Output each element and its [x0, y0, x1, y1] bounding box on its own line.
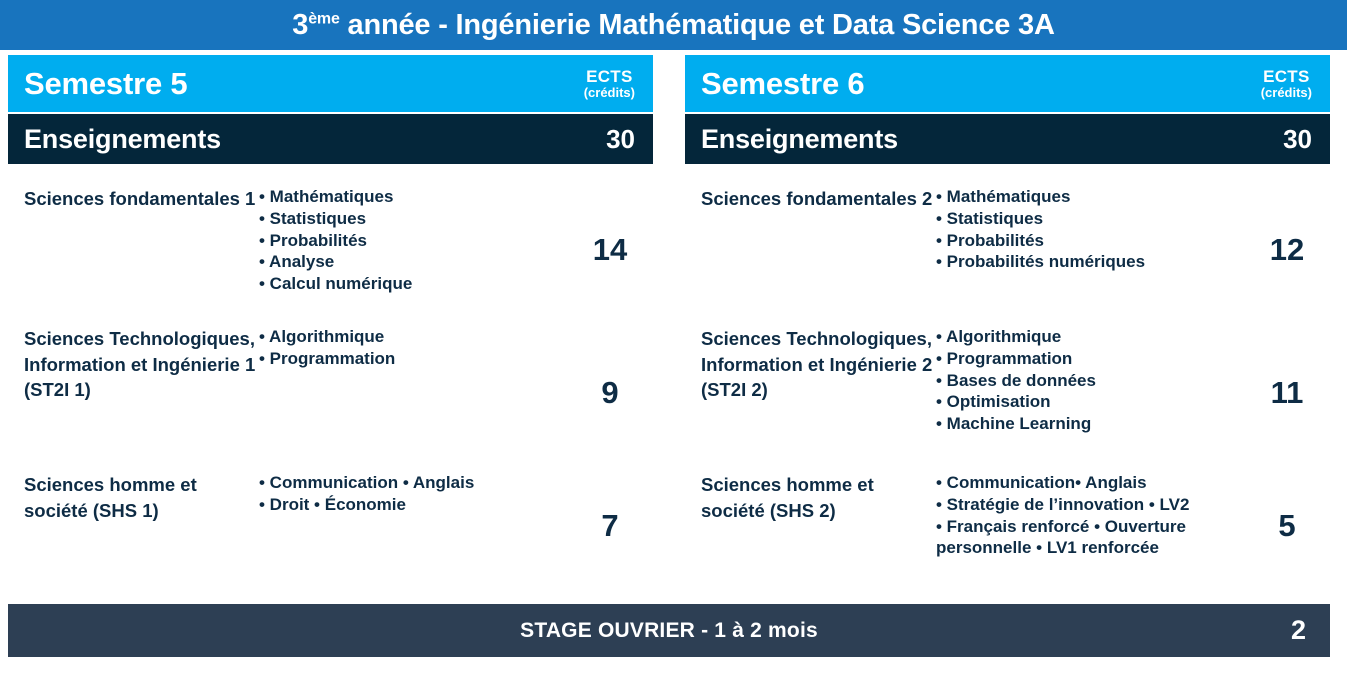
semester-6-header: Semestre 6 ECTS (crédits) — [685, 55, 1330, 112]
internship-bar: STAGE OUVRIER - 1 à 2 mois 2 — [8, 604, 1330, 657]
semester-5-ects-header: ECTS (crédits) — [584, 68, 639, 99]
semester-panel-6: Semestre 6 ECTS (crédits) Enseignements … — [685, 55, 1330, 590]
module-course-list: • Mathématiques • Statistiques • Probabi… — [259, 178, 581, 295]
semester-5-title: Semestre 5 — [24, 66, 187, 102]
semester-5-header: Semestre 5 ECTS (crédits) — [8, 55, 653, 112]
semester-6-ects-header: ECTS (crédits) — [1261, 68, 1316, 99]
module-course-list: • Communication • Anglais • Droit • Écon… — [259, 464, 581, 516]
list-item: • Probabilités — [259, 230, 575, 252]
semester-5-teaching-bar: Enseignements 30 — [8, 114, 653, 164]
module-course-list: • Mathématiques • Statistiques • Probabi… — [936, 178, 1258, 273]
internship-label: STAGE OUVRIER - 1 à 2 mois — [32, 619, 1266, 643]
teaching-label: Enseignements — [701, 124, 898, 155]
module-row: Sciences fondamentales 1 • Mathématiques… — [8, 178, 653, 318]
semester-6-title: Semestre 6 — [701, 66, 864, 102]
ects-sublabel: (crédits) — [1261, 86, 1312, 100]
module-row: Sciences Technologiques, Information et … — [8, 318, 653, 464]
list-item: • Probabilités numériques — [936, 251, 1252, 273]
page-title-rest: année - Ingénierie Mathématique et Data … — [340, 9, 1055, 41]
list-item: • Probabilités — [936, 230, 1252, 252]
teaching-total-credits: 30 — [606, 124, 635, 155]
ects-label: ECTS — [584, 68, 635, 86]
curriculum-page: 3ème année - Ingénierie Mathématique et … — [0, 0, 1347, 673]
semester-panels: Semestre 5 ECTS (crédits) Enseignements … — [8, 55, 1330, 590]
module-title: Sciences fondamentales 2 — [701, 178, 936, 212]
module-row: Sciences homme et société (SHS 2) • Comm… — [685, 464, 1330, 584]
teaching-total-credits: 30 — [1283, 124, 1312, 155]
module-credits: 5 — [1258, 504, 1316, 544]
list-item: • Programmation — [259, 348, 575, 370]
list-item: • Algorithmique — [259, 326, 575, 348]
module-title: Sciences fondamentales 1 — [24, 178, 259, 212]
module-credits: 14 — [581, 228, 639, 268]
ects-sublabel: (crédits) — [584, 86, 635, 100]
semester-panel-5: Semestre 5 ECTS (crédits) Enseignements … — [8, 55, 653, 590]
list-item: • Communication• Anglais — [936, 472, 1252, 494]
page-title-superscript: ème — [308, 10, 339, 27]
internship-credits: 2 — [1266, 615, 1306, 646]
list-item: • Droit • Économie — [259, 494, 575, 516]
list-item: • Stratégie de l’innovation • LV2 — [936, 494, 1252, 516]
module-row: Sciences homme et société (SHS 1) • Comm… — [8, 464, 653, 584]
list-item: • Algorithmique — [936, 326, 1252, 348]
list-item: • Programmation — [936, 348, 1252, 370]
list-item: • Bases de données — [936, 370, 1252, 392]
module-title: Sciences Technologiques, Information et … — [701, 318, 936, 403]
module-row: Sciences fondamentales 2 • Mathématiques… — [685, 178, 1330, 318]
module-credits: 9 — [581, 371, 639, 411]
list-item: • Communication • Anglais — [259, 472, 575, 494]
module-title: Sciences homme et société (SHS 1) — [24, 464, 259, 523]
page-title-prefix: 3 — [292, 9, 308, 41]
page-title: 3ème année - Ingénierie Mathématique et … — [292, 9, 1054, 42]
list-item: • Statistiques — [936, 208, 1252, 230]
module-course-list: • Communication• Anglais • Stratégie de … — [936, 464, 1258, 559]
module-credits: 7 — [581, 504, 639, 544]
module-row: Sciences Technologiques, Information et … — [685, 318, 1330, 464]
module-course-list: • Algorithmique • Programmation • Bases … — [936, 318, 1258, 435]
semester-6-teaching-bar: Enseignements 30 — [685, 114, 1330, 164]
list-item: • Mathématiques — [259, 186, 575, 208]
semester-5-body: Sciences fondamentales 1 • Mathématiques… — [8, 164, 653, 590]
list-item: • Optimisation — [936, 391, 1252, 413]
semester-6-body: Sciences fondamentales 2 • Mathématiques… — [685, 164, 1330, 590]
list-item: • Machine Learning — [936, 413, 1252, 435]
list-item: • Statistiques — [259, 208, 575, 230]
module-course-list: • Algorithmique • Programmation — [259, 318, 581, 370]
module-title: Sciences Technologiques, Information et … — [24, 318, 259, 403]
module-title: Sciences homme et société (SHS 2) — [701, 464, 936, 523]
list-item: • Mathématiques — [936, 186, 1252, 208]
ects-label: ECTS — [1261, 68, 1312, 86]
page-header-banner: 3ème année - Ingénierie Mathématique et … — [0, 0, 1347, 50]
teaching-label: Enseignements — [24, 124, 221, 155]
list-item: • Français renforcé • Ouverture personne… — [936, 516, 1252, 560]
list-item: • Analyse — [259, 251, 575, 273]
list-item: • Calcul numérique — [259, 273, 575, 295]
module-credits: 11 — [1258, 371, 1316, 411]
module-credits: 12 — [1258, 228, 1316, 268]
